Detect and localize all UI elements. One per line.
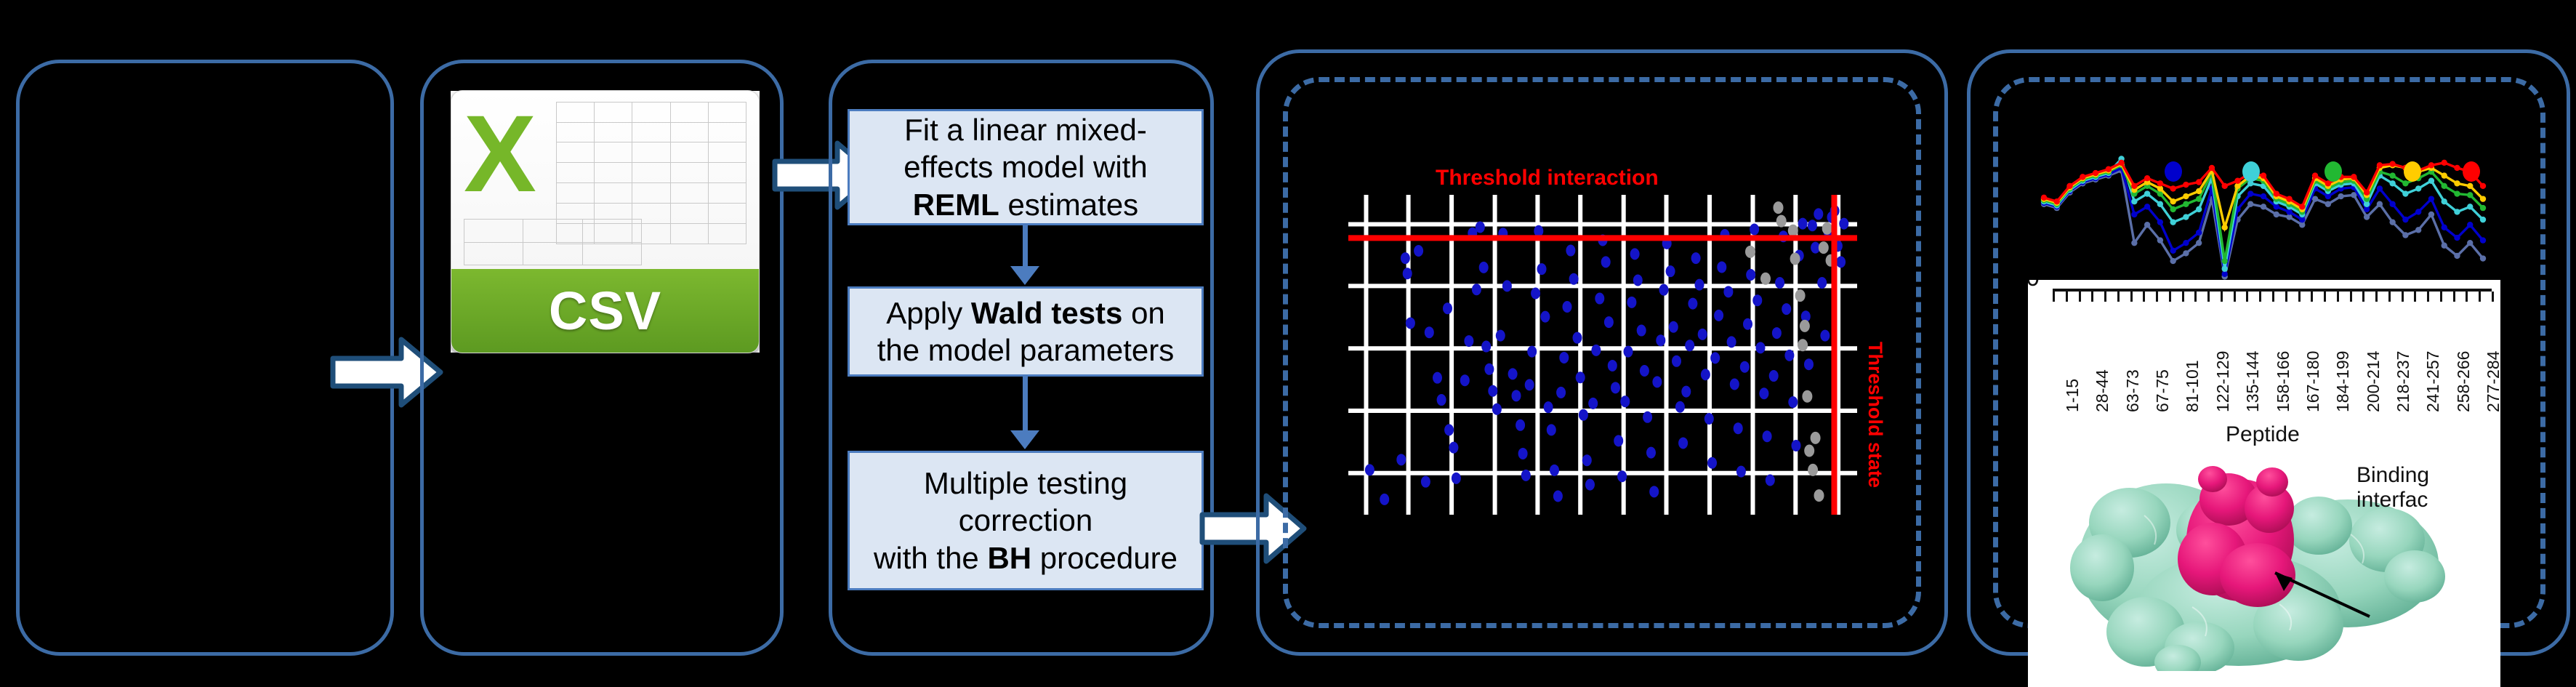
- peptide-tick-label: 184-199: [2333, 351, 2353, 412]
- legend-dot-cyan: [2242, 161, 2260, 182]
- peptide-tick-label: 158-166: [2274, 351, 2293, 412]
- x-axis-tick: [2375, 292, 2378, 302]
- reml-line3: estimates: [999, 188, 1138, 222]
- legend-dot-blue: [2165, 161, 2182, 182]
- x-axis-tick: [2079, 292, 2081, 302]
- peptide-tick-label: 67-75: [2153, 369, 2173, 412]
- peptide-tick-label: 28-44: [2093, 369, 2112, 412]
- bh-line3b: procedure: [1031, 541, 1178, 575]
- x-axis-tick: [2337, 292, 2339, 302]
- x-axis-tick: [2479, 292, 2481, 302]
- peptide-tick-label: 81-101: [2183, 360, 2202, 412]
- x-axis-tick: [2272, 292, 2274, 302]
- x-axis-tick: [2440, 292, 2442, 302]
- x-axis-tick: [2362, 292, 2364, 302]
- spreadsheet-grid: [451, 91, 759, 269]
- profile-svg: [2019, 138, 2528, 284]
- x-axis-tick: [2066, 292, 2068, 302]
- reml-line1: Fit a linear mixed-: [904, 113, 1147, 147]
- peptide-tick-label: 200-214: [2364, 351, 2383, 412]
- x-axis-tick: [2388, 292, 2391, 302]
- x-axis-tick: [2130, 292, 2133, 302]
- x-axis-tick: [2285, 292, 2287, 302]
- binding-label-line1: Binding: [2356, 463, 2429, 488]
- bh-line2: correction: [959, 503, 1092, 537]
- x-axis-tick: [2104, 292, 2106, 302]
- x-axis-tick: [2194, 292, 2197, 302]
- binding-label-line2: interfac: [2356, 488, 2429, 513]
- x-axis-tick: [2259, 292, 2261, 302]
- step-bh-text: Multiple testing correction with the BH …: [874, 465, 1178, 576]
- threshold-interaction-label: Threshold interaction: [1436, 166, 1659, 190]
- step-box-wald[interactable]: Apply Wald tests on the model parameters: [848, 286, 1204, 377]
- wald-pre: Apply: [886, 296, 971, 330]
- x-axis-tick: [2143, 292, 2145, 302]
- csv-file-icon: X CSV: [451, 90, 760, 353]
- x-axis-tick: [2207, 292, 2210, 302]
- wald-bold: Wald tests: [971, 296, 1122, 330]
- x-axis-tick: [2427, 292, 2429, 302]
- step-reml-text: Fit a linear mixed- effects model with R…: [903, 111, 1147, 223]
- connector-reml-wald: [1023, 225, 1028, 266]
- x-axis-tick: [2156, 292, 2158, 302]
- scatter-svg: [1348, 195, 1857, 515]
- peptide-profile-chart: [2019, 138, 2528, 284]
- results-figure-white: 0.0 1-1528-4463-7367-7581-101122-129135-…: [2028, 280, 2500, 687]
- grid-lower: [464, 219, 642, 265]
- csv-label: CSV: [549, 280, 661, 342]
- x-axis-tick: [2414, 292, 2416, 302]
- x-axis-tick: [2221, 292, 2223, 302]
- legend-dot-yellow: [2404, 161, 2421, 182]
- csv-image: X CSV: [451, 91, 760, 353]
- bh-line1: Multiple testing: [924, 466, 1127, 500]
- peptide-tick-label: 277-284: [2484, 351, 2500, 412]
- scatter-plot: [1348, 195, 1857, 515]
- x-axis-tick: [2298, 292, 2301, 302]
- x-axis-tick: [2169, 292, 2171, 302]
- reml-bold: REML: [913, 188, 999, 222]
- x-axis-tick: [2324, 292, 2326, 302]
- peptide-tick-label: 218-237: [2394, 351, 2413, 412]
- bh-bold: BH: [987, 541, 1031, 575]
- connector-arrowhead-1: [1010, 266, 1039, 285]
- x-axis-tick: [2311, 292, 2313, 302]
- x-axis-tick: [2466, 292, 2468, 302]
- step-box-reml[interactable]: Fit a linear mixed- effects model with R…: [848, 109, 1204, 225]
- peptide-tick-label: 167-180: [2303, 351, 2323, 412]
- x-axis-tick: [2234, 292, 2236, 302]
- x-axis-tick: [2053, 292, 2055, 302]
- threshold-state-label: Threshold state: [1864, 342, 1886, 488]
- x-axis-tick: [2453, 292, 2455, 302]
- connector-arrowhead-2: [1010, 430, 1039, 449]
- connector-wald-bh: [1023, 377, 1028, 430]
- x-axis-tick: [2350, 292, 2352, 302]
- x-axis-tick: [2117, 292, 2120, 302]
- csv-band: CSV: [451, 269, 759, 353]
- x-axis-title: Peptide: [2226, 422, 2300, 447]
- x-axis-tick: [2182, 292, 2184, 302]
- y-axis-tick-0: 0.0: [2028, 280, 2040, 292]
- legend-dot-green: [2325, 161, 2342, 182]
- reml-line2: effects model with: [903, 150, 1147, 184]
- x-axis-tick: [2246, 292, 2248, 302]
- bh-line3a: with the: [874, 541, 987, 575]
- step-wald-text: Apply Wald tests on the model parameters: [877, 294, 1175, 369]
- x-axis-tick: [2492, 292, 2494, 302]
- x-axis-tick: [2091, 292, 2093, 302]
- peptide-tick-label: 135-144: [2243, 351, 2263, 412]
- legend-dot-red: [2463, 161, 2480, 182]
- peptide-tick-label: 1-15: [2063, 379, 2082, 412]
- peptide-tick-label: 63-73: [2123, 369, 2143, 412]
- wald-line2: the model parameters: [877, 333, 1175, 367]
- wald-post: on: [1122, 296, 1164, 330]
- peptide-tick-label: 122-129: [2213, 351, 2233, 412]
- binding-interface-annotation: Binding interfac: [2356, 463, 2429, 512]
- peptide-tick-label: 241-257: [2423, 351, 2443, 412]
- peptide-tick-label: 258-266: [2454, 351, 2474, 412]
- step-box-bh[interactable]: Multiple testing correction with the BH …: [848, 451, 1204, 590]
- x-axis-tick: [2402, 292, 2404, 302]
